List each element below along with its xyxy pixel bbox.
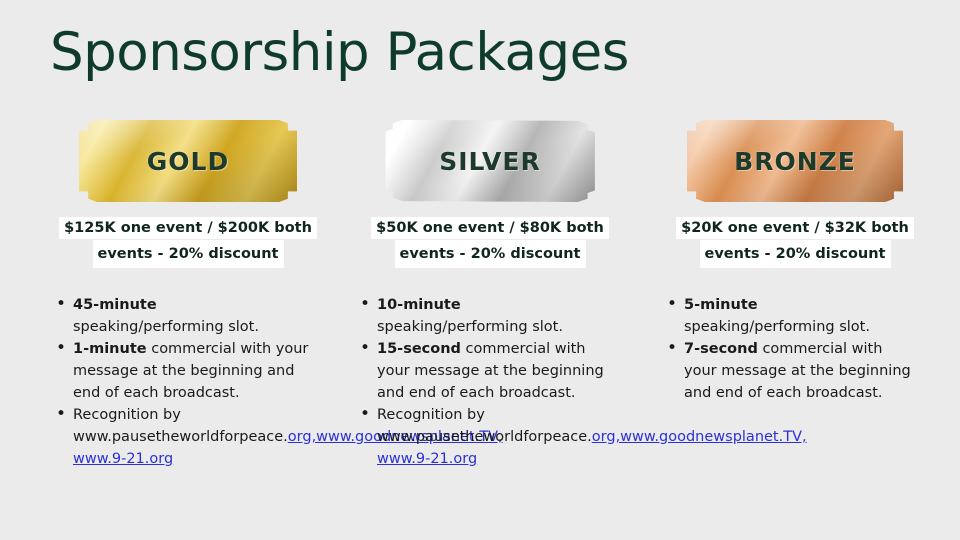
package-column-silver: SILVER $50K one event / $80K both events… [340,120,640,470]
bullet-text: speaking/performing slot. [684,319,870,335]
bullet-lead: 5-minute [684,294,917,316]
list-item: 1-minute commercial with your message at… [56,338,310,404]
bullet-lead: 15-second [377,341,461,357]
price-line-1-bronze: $20K one event / $32K both [676,217,914,239]
bullet-text: Recognition by www.pausetheworldforpeace… [73,407,288,445]
price-line-1-silver: $50K one event / $80K both [371,217,609,239]
benefit-list-silver: 10-minutespeaking/performing slot. 15-se… [340,294,612,470]
plaque-wrap-bronze: BRONZE [645,120,945,202]
price-line-2-silver: events - 20% discount [395,240,586,268]
page-title: Sponsorship Packages [50,22,629,83]
package-column-gold: GOLD $125K one event / $200K both events… [38,120,338,470]
slide-canvas: Sponsorship Packages GOLD $125K one even… [0,0,960,540]
list-item: 10-minutespeaking/performing slot. [360,294,612,338]
list-item: Recognition by www.pausetheworldforpeace… [360,404,612,470]
bullet-lead: 10-minute [377,294,612,316]
bullet-lead: 1-minute [73,341,147,357]
tier-plaque-gold[interactable]: GOLD [79,120,297,202]
tier-label-silver: SILVER [439,147,540,176]
price-banner-silver: $50K one event / $80K both events - 20% … [340,217,640,268]
list-item: 45-minutespeaking/performing slot. [56,294,310,338]
list-item: 5-minutespeaking/performing slot. [667,294,917,338]
price-line-2-bronze: events - 20% discount [700,240,891,268]
price-banner-bronze: $20K one event / $32K both events - 20% … [645,217,945,268]
tier-plaque-bronze[interactable]: BRONZE [687,120,903,202]
bullet-lead: 7-second [684,341,758,357]
price-line-2-gold: events - 20% discount [93,240,284,268]
benefit-list-gold: 45-minutespeaking/performing slot. 1-min… [38,294,310,470]
bullet-lead: 45-minute [73,294,310,316]
benefit-list-bronze: 5-minutespeaking/performing slot. 7-seco… [645,294,917,404]
price-banner-gold: $125K one event / $200K both events - 20… [38,217,338,268]
tier-label-gold: GOLD [147,147,229,176]
bullet-text: speaking/performing slot. [73,319,259,335]
tier-plaque-silver[interactable]: SILVER [383,120,597,202]
price-line-1-gold: $125K one event / $200K both [59,217,317,239]
list-item: 15-second commercial with your message a… [360,338,612,404]
package-column-bronze: BRONZE $20K one event / $32K both events… [645,120,945,404]
tier-label-bronze: BRONZE [734,147,856,176]
bullet-text: speaking/performing slot. [377,319,563,335]
plaque-wrap-gold: GOLD [38,120,338,202]
list-item: 7-second commercial with your message at… [667,338,917,404]
bullet-text: Recognition by www.pausetheworldforpeace… [377,407,592,445]
list-item: Recognition by www.pausetheworldforpeace… [56,404,310,470]
plaque-wrap-silver: SILVER [340,120,640,202]
